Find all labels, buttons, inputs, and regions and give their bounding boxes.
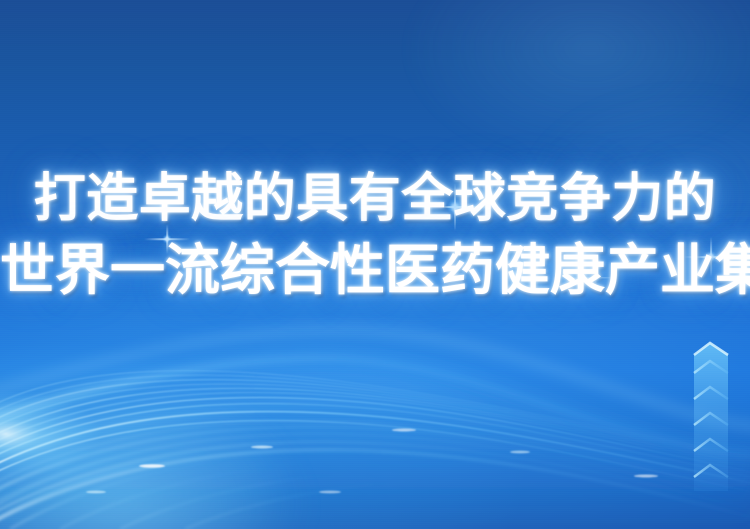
left-convergence-flare bbox=[0, 390, 102, 478]
chevron-rib-4 bbox=[694, 439, 728, 451]
streak-bundle-lower bbox=[0, 421, 750, 529]
wave-ridge-secondary bbox=[0, 404, 750, 481]
banner-canvas: 打造卓越的具有全球竞争力的 世界一流综合性医药健康产业集团 bbox=[0, 0, 750, 529]
streak-bundle-bright bbox=[0, 371, 750, 496]
wave-ridge-haze bbox=[0, 330, 750, 427]
headline-block: 打造卓越的具有全球竞争力的 世界一流综合性医药健康产业集团 bbox=[0, 172, 750, 299]
headline-line-1: 打造卓越的具有全球竞争力的 bbox=[0, 172, 750, 227]
wave-fill-upper bbox=[0, 368, 750, 529]
wave-ridge-main-highlight bbox=[0, 359, 750, 455]
chevron-cap bbox=[694, 343, 728, 355]
wave-ridge-main bbox=[0, 357, 750, 453]
streak-bundle-diagonal bbox=[0, 432, 400, 529]
chevron-rib-group bbox=[694, 361, 728, 477]
lower-left-light-source-glow bbox=[0, 339, 385, 529]
streak-specular-highlights bbox=[86, 429, 658, 494]
ascending-chevron-stack bbox=[684, 341, 736, 491]
chevron-rib-2 bbox=[694, 387, 728, 399]
headline-line-2: 世界一流综合性医药健康产业集团 bbox=[0, 241, 750, 299]
chevron-rib-3 bbox=[694, 413, 728, 425]
chevron-rib-1 bbox=[694, 361, 728, 373]
chevron-column-body bbox=[694, 343, 728, 491]
chevron-rib-5 bbox=[694, 465, 728, 477]
